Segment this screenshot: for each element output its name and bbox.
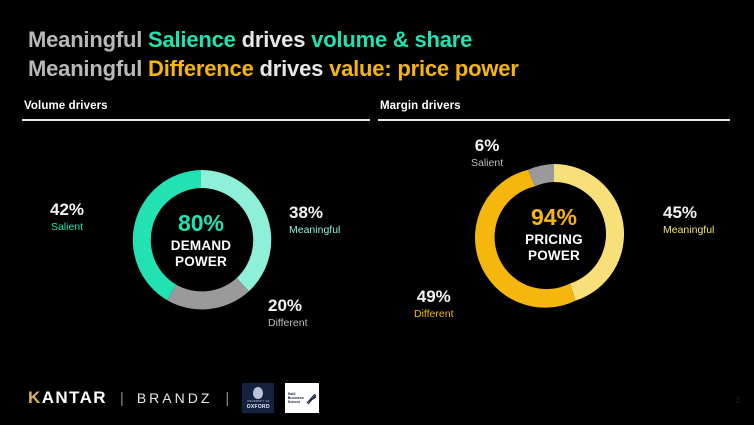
headline-seg-drives-2: drives [254,56,329,81]
callout-left-different-pct: 20% [268,297,308,316]
callout-right-salient-pct: 6% [471,137,503,156]
callout-right-meaningful: 45% Meaningful [663,204,714,237]
headline: Meaningful Salience drives volume & shar… [28,26,728,83]
headline-line-1: Meaningful Salience drives volume & shar… [28,26,728,55]
oxford-logo-line2: OXFORD [247,404,270,410]
callout-left-salient-pct: 42% [50,201,84,220]
oxford-logo-line1: UNIVERSITY OF [247,400,269,403]
callout-right-different-name: Different [414,308,454,322]
donut-left-svg [119,158,283,322]
callout-left-meaningful-name: Meaningful [289,224,340,238]
sbs-logo-line3: School [288,400,304,404]
panel-title-volume-drivers: Volume drivers [22,100,370,112]
brandz-logo: BRANDZ [137,390,213,406]
callout-right-different-pct: 49% [414,288,454,307]
panel-rule-right [378,119,730,121]
footer-divider-1: | [118,390,126,407]
panel-margin-drivers: Margin drivers [378,100,730,121]
donut-left-arc-salient [133,170,201,300]
sbs-logo-text: Saïd Business School [288,392,304,404]
donut-chart-demand-power: 80% DEMAND POWER [119,158,283,322]
footer-divider-2: | [223,390,231,407]
panel-rule-left [22,119,370,121]
kantar-logo-rest: ANTAR [42,388,107,407]
callout-left-different-name: Different [268,317,308,331]
headline-seg-volume-share: volume & share [311,27,472,52]
headline-line-2: Meaningful Difference drives value: pric… [28,55,728,84]
footer-branding: KANTAR | BRANDZ | UNIVERSITY OF OXFORD S… [28,383,319,413]
callout-right-meaningful-pct: 45% [663,204,714,223]
donut-left-arc-meaningful [201,170,271,291]
donut-chart-pricing-power: 94% PRICING POWER [472,152,636,316]
oxford-crest-icon [253,387,263,399]
callout-left-meaningful: 38% Meaningful [289,204,340,237]
headline-seg-value-price-power: value: price power [329,56,519,81]
callout-left-different: 20% Different [268,297,308,330]
donut-right-arc-different [475,170,576,308]
said-business-school-logo: Saïd Business School [285,383,319,413]
slide-canvas: Meaningful Salience drives volume & shar… [0,0,754,425]
panel-title-margin-drivers: Margin drivers [378,100,730,112]
callout-right-salient: 6% Salient [471,137,503,170]
headline-seg-meaningful-1: Meaningful [28,27,148,52]
headline-seg-difference: Difference [148,56,254,81]
headline-seg-meaningful-2: Meaningful [28,56,148,81]
callout-left-meaningful-pct: 38% [289,204,340,223]
oxford-university-logo: UNIVERSITY OF OXFORD [242,383,274,413]
kantar-logo: KANTAR [28,388,107,408]
donut-right-arc-meaningful [554,164,624,301]
callout-right-different: 49% Different [414,288,454,321]
headline-seg-drives-1: drives [236,27,311,52]
callout-left-salient: 42% Salient [50,201,84,234]
kantar-logo-k: K [28,388,42,407]
page-number: 3 [736,396,740,405]
panel-volume-drivers: Volume drivers [22,100,370,121]
sbs-mark-icon [306,392,317,405]
callout-left-salient-name: Salient [50,221,84,235]
headline-seg-salience: Salience [148,27,236,52]
donut-left-arc-different [167,278,249,309]
callout-right-meaningful-name: Meaningful [663,224,714,238]
donut-right-svg [472,152,636,316]
callout-right-salient-name: Salient [471,157,503,171]
